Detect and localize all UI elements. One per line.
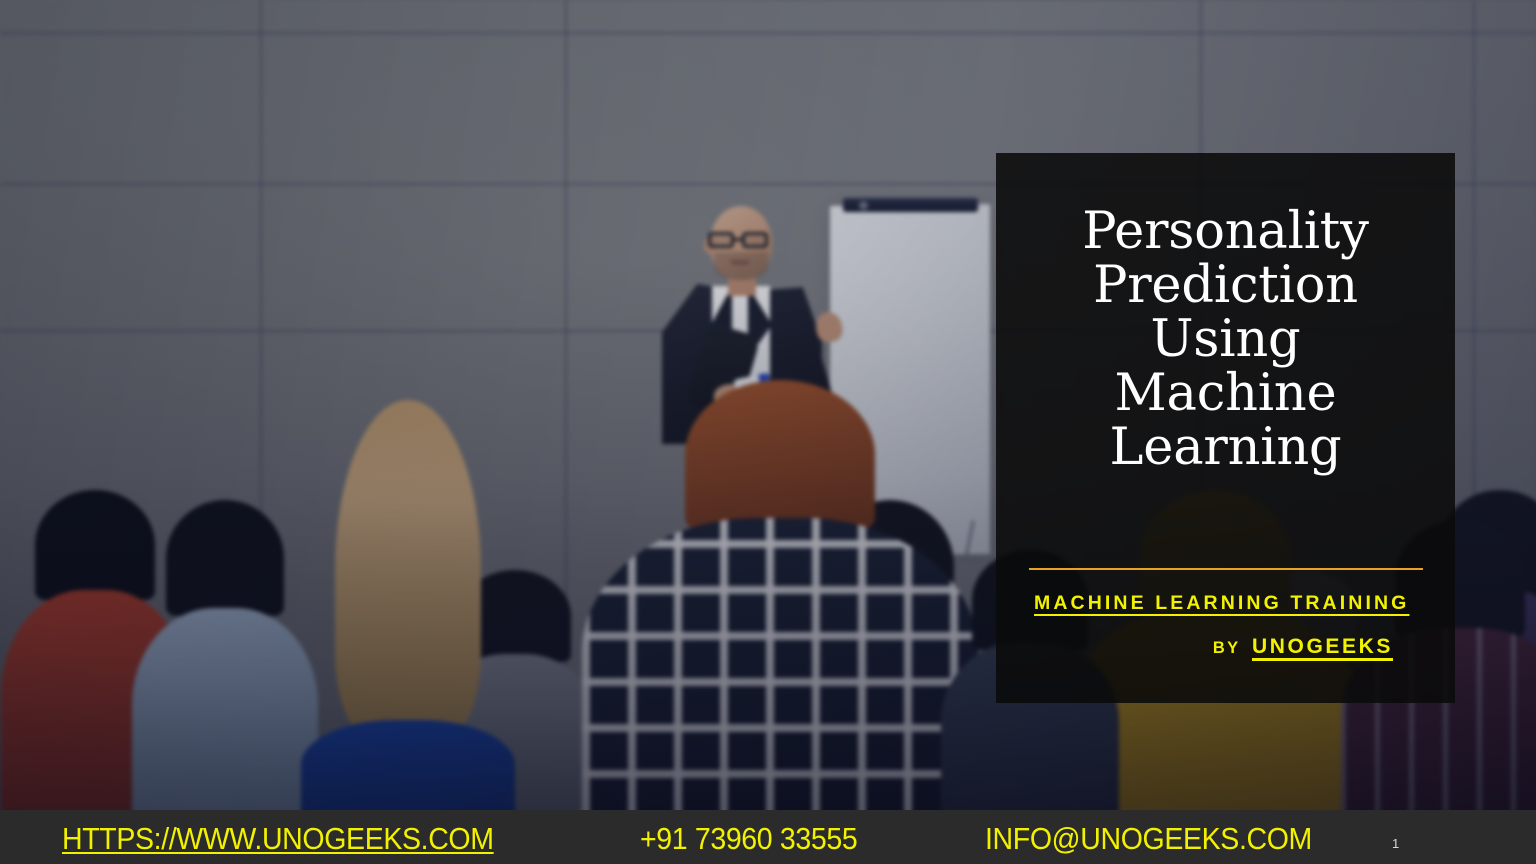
presenter-beard bbox=[714, 252, 768, 280]
course-subtitle: MACHINE LEARNING TRAINING bbox=[1034, 592, 1409, 615]
presenter-mouth bbox=[730, 260, 750, 265]
title-panel: Personality Prediction Using Machine Lea… bbox=[996, 153, 1455, 703]
phone-number[interactable]: +91 73960 33555 bbox=[640, 821, 857, 857]
audience-member bbox=[300, 400, 515, 820]
brand-name[interactable]: UNOGEEKS bbox=[1252, 635, 1393, 658]
flipchart-clamp bbox=[843, 198, 978, 212]
wall-seam-horizontal bbox=[0, 32, 1536, 34]
attribution-line: BY UNOGEEKS bbox=[1213, 635, 1393, 659]
footer-bar: HTTPS://WWW.UNOGEEKS.COM +91 73960 33555… bbox=[0, 810, 1536, 864]
attribution-label: BY bbox=[1213, 639, 1241, 657]
slide-number: 1 bbox=[1392, 836, 1399, 851]
website-link[interactable]: HTTPS://WWW.UNOGEEKS.COM bbox=[62, 821, 494, 857]
audience-member bbox=[580, 380, 980, 820]
page-title: Personality Prediction Using Machine Lea… bbox=[1030, 205, 1421, 475]
accent-divider bbox=[1029, 568, 1423, 571]
eyeglasses-icon bbox=[706, 232, 776, 248]
email-address[interactable]: INFO@UNOGEEKS.COM bbox=[985, 821, 1312, 857]
presentation-slide: Personality Prediction Using Machine Lea… bbox=[0, 0, 1536, 864]
audience-member bbox=[130, 500, 320, 820]
